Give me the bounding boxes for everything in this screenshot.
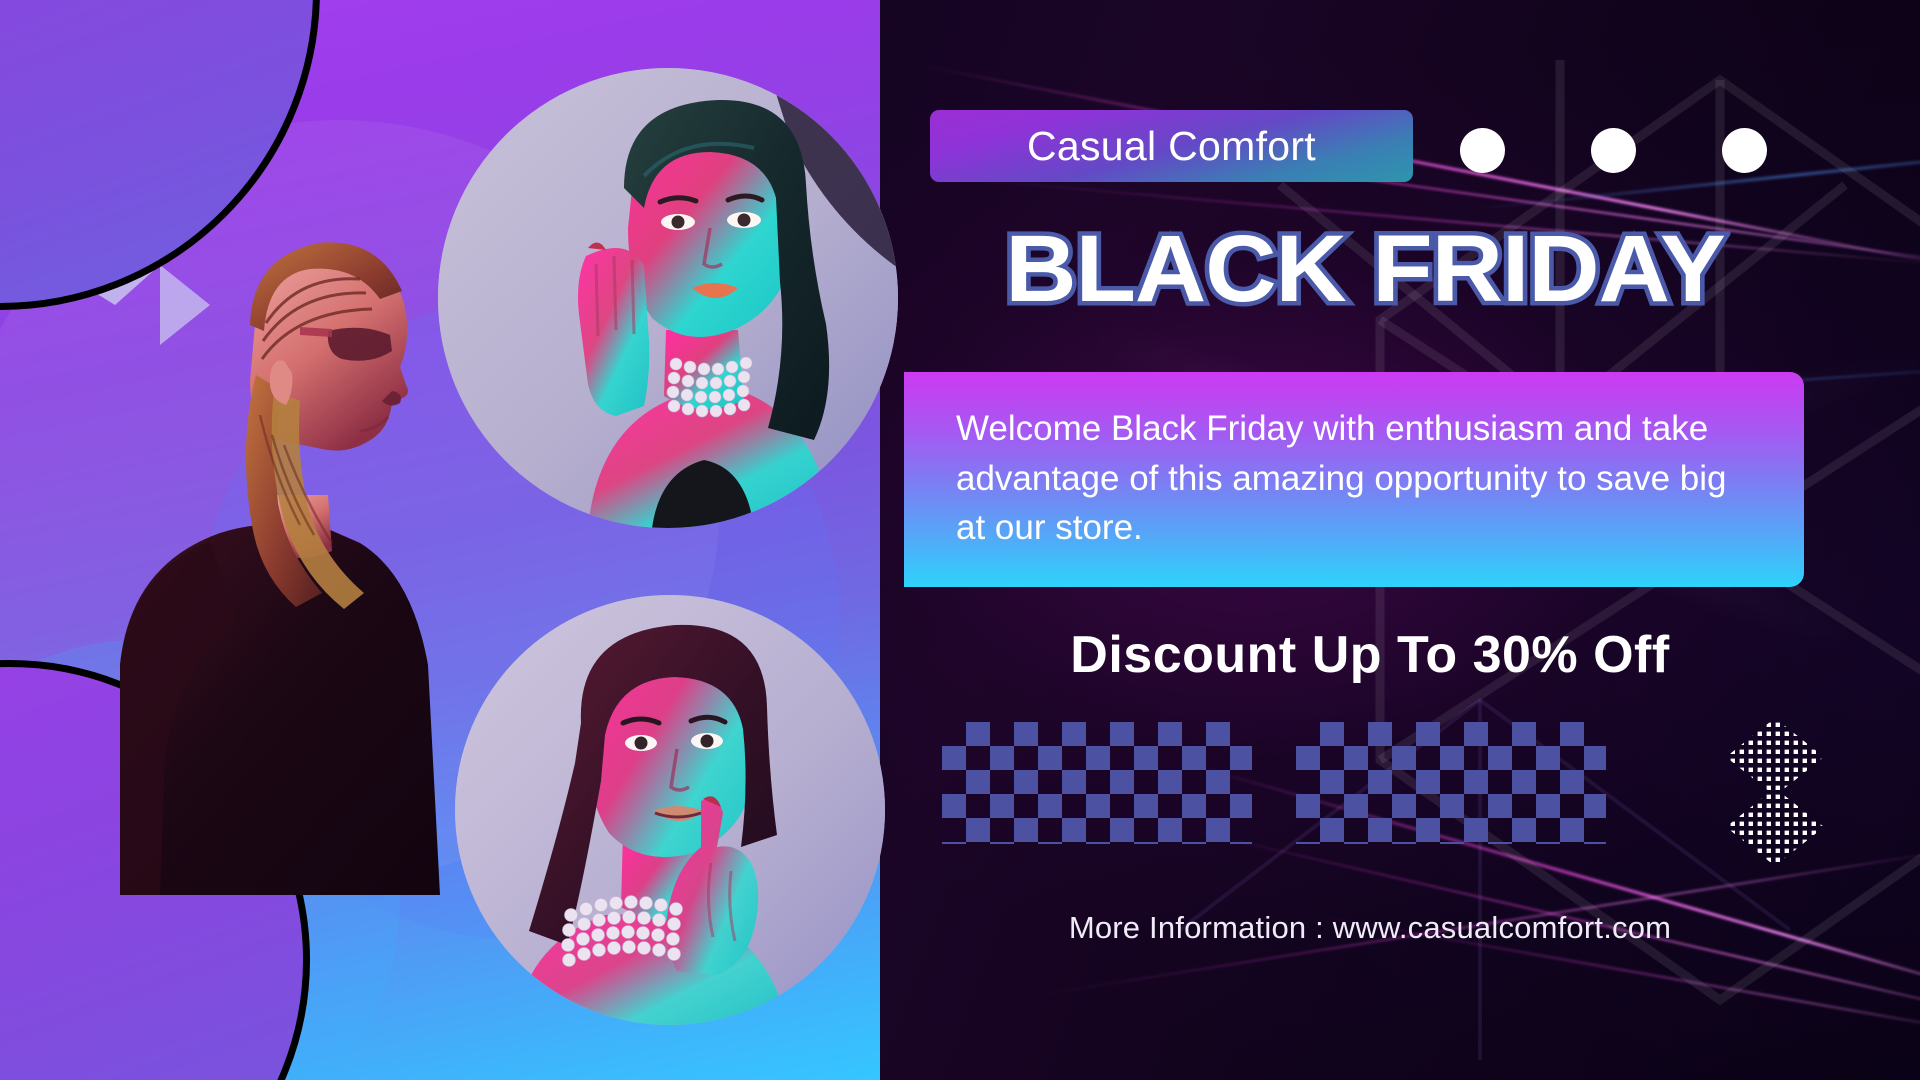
black-friday-banner: Casual Comfort BLACK FRIDAY Welcome Blac… [0, 0, 1920, 1080]
model-photo-bottom [455, 595, 885, 1025]
description-panel: Welcome Black Friday with enthusiasm and… [904, 372, 1804, 587]
dot-1-icon [1460, 128, 1505, 173]
discount-text: Discount Up To 30% Off [930, 625, 1810, 685]
brand-badge-label: Casual Comfort [1027, 123, 1316, 170]
dot-3-icon [1722, 128, 1767, 173]
brand-badge[interactable]: Casual Comfort [930, 110, 1413, 182]
content-column: Casual Comfort BLACK FRIDAY Welcome Blac… [930, 0, 1920, 1080]
dot-2-icon [1591, 128, 1636, 173]
check-grid-right [1296, 722, 1606, 844]
model-photo-hoodie [60, 195, 500, 895]
checker-pattern-group [942, 722, 1606, 844]
diamond-dots-decor [1720, 712, 1830, 872]
more-information-text: More Information : www.casualcomfort.com [930, 910, 1810, 946]
model-photo-top [438, 68, 898, 528]
page-title: BLACK FRIDAY [907, 222, 1822, 317]
description-text: Welcome Black Friday with enthusiasm and… [956, 404, 1764, 553]
dot-group-decor [1460, 128, 1767, 173]
check-grid-left [942, 722, 1252, 844]
